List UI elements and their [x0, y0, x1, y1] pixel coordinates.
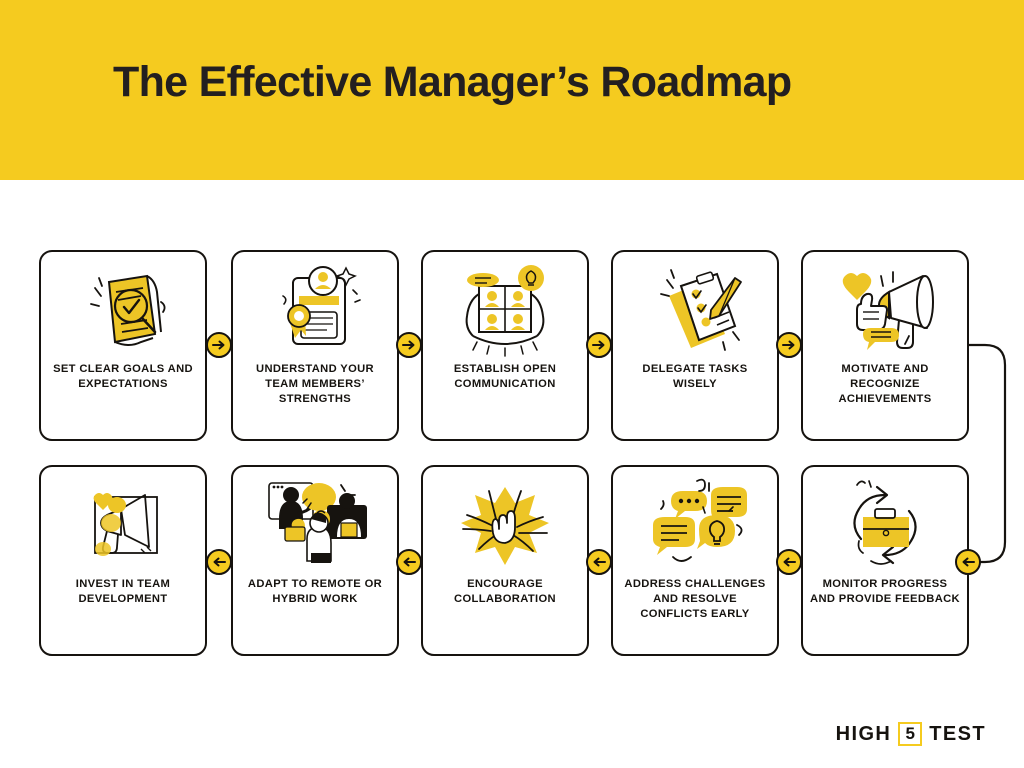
roadmap-card-9[interactable]: ADAPT TO REMOTE OR HYBRID WORK — [231, 465, 399, 656]
roadmap-card-7[interactable]: ADDRESS CHALLENGES AND RESOLVE CONFLICTS… — [611, 465, 779, 656]
logo-text-test: TEST — [929, 723, 986, 746]
logo-number-five: 5 — [898, 722, 922, 746]
infographic-page: The Effective Manager’s Roadmap — [0, 0, 1024, 768]
roadmap-card-3-label: ESTABLISH OPEN COMMUNICATION — [423, 362, 587, 392]
arrow-right-icon — [782, 339, 796, 351]
presentation-megaphone-icon — [41, 467, 205, 575]
roadmap-flow: SET CLEAR GOALS AND EXPECTATIONS — [0, 180, 1024, 705]
speech-bubbles-idea-icon — [613, 467, 777, 575]
header-banner: The Effective Manager’s Roadmap — [0, 0, 1024, 180]
arrow-left-icon — [782, 556, 796, 568]
arrow-right-icon — [402, 339, 416, 351]
arrow-node-9-8[interactable] — [396, 549, 422, 575]
roadmap-card-1-label: SET CLEAR GOALS AND EXPECTATIONS — [41, 362, 205, 392]
hands-together-teamwork-icon — [423, 467, 587, 575]
arrow-right-icon — [212, 339, 226, 351]
arrow-left-icon — [592, 556, 606, 568]
arrow-left-icon — [212, 556, 226, 568]
video-call-grid-idea-icon — [423, 252, 587, 360]
page-title: The Effective Manager’s Roadmap — [113, 58, 791, 107]
arrow-node-8-7[interactable] — [586, 549, 612, 575]
roadmap-card-2-label: UNDERSTAND YOUR TEAM MEMBERS’ STRENGTHS — [233, 362, 397, 406]
roadmap-card-8[interactable]: ENCOURAGE COLLABORATION — [421, 465, 589, 656]
arrow-right-icon — [592, 339, 606, 351]
roadmap-card-6[interactable]: MONITOR PROGRESS AND PROVIDE FEEDBACK — [801, 465, 969, 656]
arrow-node-4-5[interactable] — [776, 332, 802, 358]
roadmap-card-5-label: MOTIVATE AND RECOGNIZE ACHIEVEMENTS — [803, 362, 967, 406]
brand-logo: HIGH 5 TEST — [836, 722, 986, 746]
roadmap-card-1[interactable]: SET CLEAR GOALS AND EXPECTATIONS — [39, 250, 207, 441]
arrow-left-icon — [961, 556, 975, 568]
roadmap-card-10-label: INVEST IN TEAM DEVELOPMENT — [41, 577, 205, 607]
remote-team-screens-icon — [233, 467, 397, 575]
roadmap-card-6-label: MONITOR PROGRESS AND PROVIDE FEEDBACK — [803, 577, 967, 607]
briefcase-refresh-cycle-icon — [803, 467, 967, 575]
arrow-node-1-2[interactable] — [206, 332, 232, 358]
roadmap-card-8-label: ENCOURAGE COLLABORATION — [423, 577, 587, 607]
roadmap-card-3[interactable]: ESTABLISH OPEN COMMUNICATION — [421, 250, 589, 441]
roadmap-card-10[interactable]: INVEST IN TEAM DEVELOPMENT — [39, 465, 207, 656]
arrow-node-7-6[interactable] — [776, 549, 802, 575]
arrow-node-2-3[interactable] — [396, 332, 422, 358]
profile-certificate-ribbon-icon — [233, 252, 397, 360]
arrow-node-10-9[interactable] — [206, 549, 232, 575]
roadmap-card-2[interactable]: UNDERSTAND YOUR TEAM MEMBERS’ STRENGTHS — [231, 250, 399, 441]
roadmap-card-9-label: ADAPT TO REMOTE OR HYBRID WORK — [233, 577, 397, 607]
roadmap-card-4-label: DELEGATE TASKS WISELY — [613, 362, 777, 392]
arrow-node-3-4[interactable] — [586, 332, 612, 358]
document-checkmark-magnifier-icon — [41, 252, 205, 360]
roadmap-card-7-label: ADDRESS CHALLENGES AND RESOLVE CONFLICTS… — [613, 577, 777, 621]
clipboard-checklist-pencil-icon — [613, 252, 777, 360]
arrow-left-icon — [402, 556, 416, 568]
roadmap-card-4[interactable]: DELEGATE TASKS WISELY — [611, 250, 779, 441]
megaphone-thumbs-up-icon — [803, 252, 967, 360]
roadmap-card-5[interactable]: MOTIVATE AND RECOGNIZE ACHIEVEMENTS — [801, 250, 969, 441]
arrow-node-wrap-row1-row2[interactable] — [955, 549, 981, 575]
logo-text-high: HIGH — [836, 723, 892, 746]
